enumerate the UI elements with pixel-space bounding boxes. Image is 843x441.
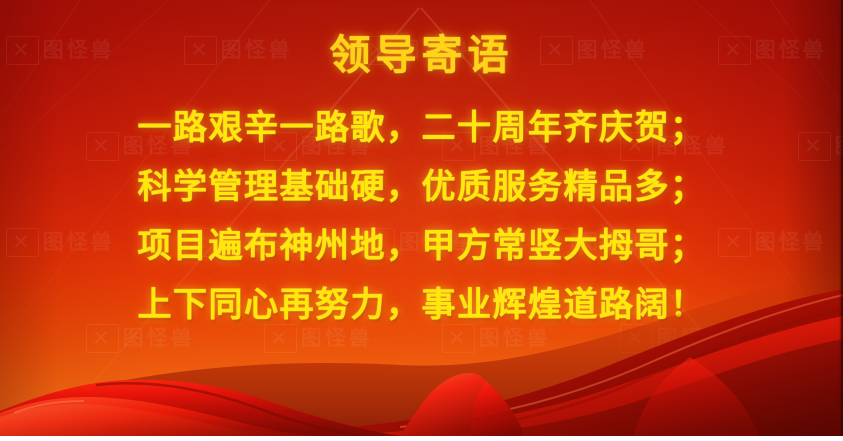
page-title: 领导寄语 [0,34,843,77]
bottom-white-strip [0,436,843,441]
couplet-line: 一路艰辛一路歌，二十周年齐庆贺； [0,99,843,158]
silk-ribbon-decoration [0,261,843,441]
poster-canvas: ✕图怪兽✕图怪兽✕图怪兽✕图怪兽✕图怪兽✕图怪兽✕图怪兽✕图怪兽✕图怪兽✕图怪兽… [0,0,843,441]
right-edge-shade [839,0,843,441]
couplet-line: 科学管理基础硬，优质服务精品多； [0,158,843,217]
